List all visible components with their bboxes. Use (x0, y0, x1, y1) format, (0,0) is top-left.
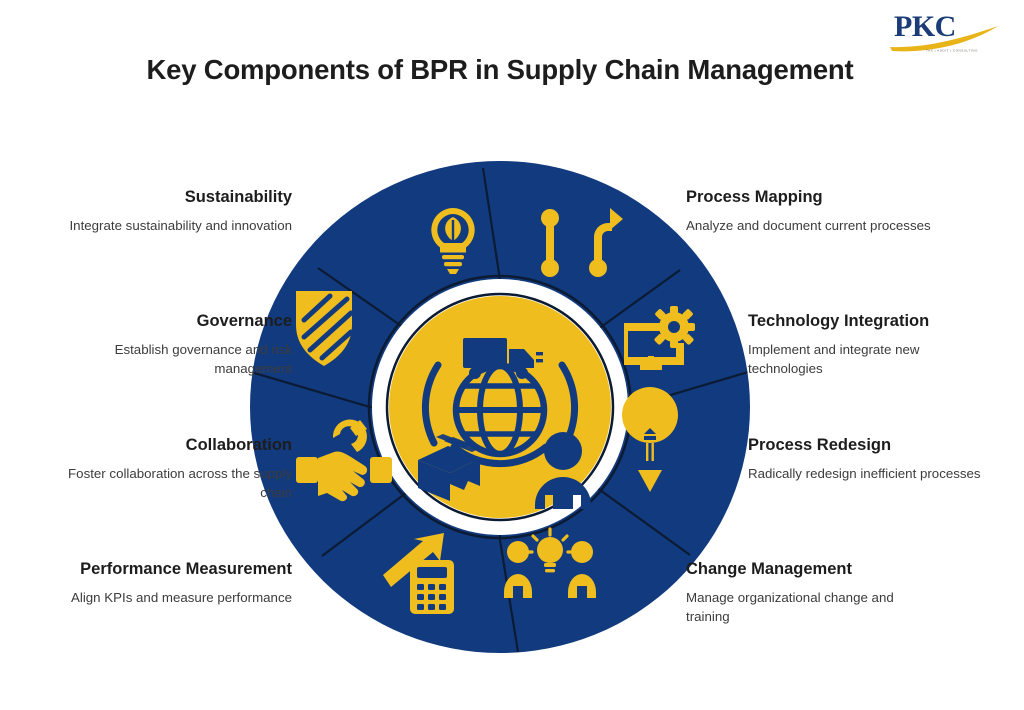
label-governance[interactable]: Governance Establish governance and risk… (44, 310, 292, 378)
label-title: Governance (44, 310, 292, 332)
page-title: Key Components of BPR in Supply Chain Ma… (0, 54, 1000, 86)
wheel-svg (250, 160, 750, 654)
label-description: Establish governance and risk management (44, 341, 292, 378)
label-collaboration[interactable]: Collaboration Foster collaboration acros… (44, 434, 292, 502)
label-title: Process Redesign (748, 434, 996, 456)
pkc-logo-mark: PKC TAX | AUDIT | CONSULTING (886, 6, 1006, 54)
label-title: Sustainability (44, 186, 292, 208)
label-title: Change Management (686, 558, 934, 580)
pkc-logo: PKC TAX | AUDIT | CONSULTING (886, 6, 1006, 54)
label-description: Integrate sustainability and innovation (44, 217, 292, 235)
logo-tagline: TAX | AUDIT | CONSULTING (926, 49, 978, 53)
label-sustainability[interactable]: Sustainability Integrate sustainability … (44, 186, 292, 236)
label-process-mapping[interactable]: Process Mapping Analyze and document cur… (686, 186, 934, 236)
label-description: Implement and integrate new technologies (748, 341, 996, 378)
label-description: Radically redesign inefficient processes (748, 465, 996, 483)
label-description: Analyze and document current processes (686, 217, 934, 235)
label-change-management[interactable]: Change Management Manage organizational … (686, 558, 934, 626)
label-process-redesign[interactable]: Process Redesign Radically redesign inef… (748, 434, 996, 484)
label-title: Performance Measurement (30, 558, 292, 580)
bpr-wheel-diagram (250, 160, 750, 654)
label-description: Align KPIs and measure performance (30, 589, 292, 607)
label-title: Process Mapping (686, 186, 934, 208)
label-description: Manage organizational change and trainin… (686, 589, 934, 626)
logo-wordmark: PKC (894, 10, 956, 43)
label-title: Collaboration (44, 434, 292, 456)
label-technology-integration[interactable]: Technology Integration Implement and int… (748, 310, 996, 378)
label-performance-measurement[interactable]: Performance Measurement Align KPIs and m… (30, 558, 292, 608)
label-description: Foster collaboration across the supply c… (44, 465, 292, 502)
label-title: Technology Integration (748, 310, 996, 332)
